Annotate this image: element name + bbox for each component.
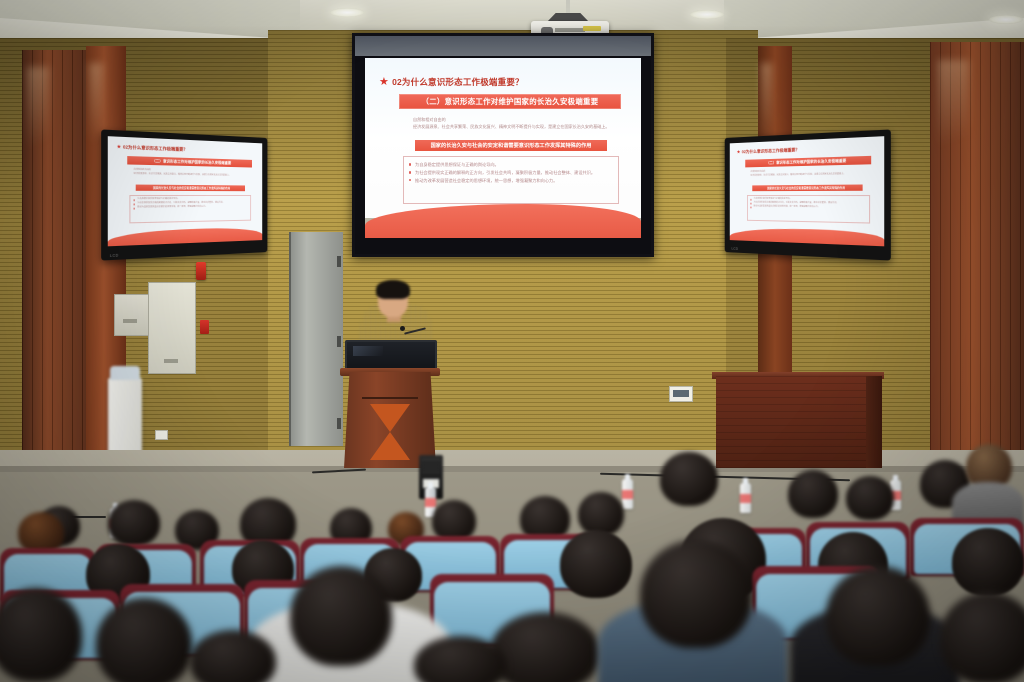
audience-head bbox=[96, 598, 192, 682]
monitor-brand-label: LCD bbox=[110, 253, 119, 258]
monitor-slide-title: ★02为什么意识形态工作极端重要？ bbox=[116, 144, 257, 155]
audience-head bbox=[940, 592, 1024, 682]
water-bottle bbox=[740, 483, 751, 513]
podium-trim bbox=[362, 397, 418, 399]
projector-vent-icon bbox=[583, 26, 601, 31]
monitor-lead-text: 自然和相对自由的 经济发展源泉、社会共享繁荣、民族文化复兴、精神文明不断提升与实… bbox=[134, 169, 249, 179]
wall-electrical-panel[interactable] bbox=[148, 282, 196, 374]
auditorium-scene: ★02为什么意识形态工作极端重要？ （二）意识形态工作对维护国家的长治久安极端重… bbox=[0, 0, 1024, 682]
monitor-wave-decoration bbox=[730, 227, 884, 246]
audience-head bbox=[290, 566, 392, 666]
wall-electrical-subpanel bbox=[114, 294, 152, 336]
slide-bullet-box: 为自身稳定提供思想保证与正确的舆论导向。 为社会提供现实正确的解释的正方向，引发… bbox=[403, 156, 619, 204]
ceiling-downlight-icon bbox=[690, 10, 724, 19]
audience-head bbox=[560, 530, 632, 598]
audience-head bbox=[846, 476, 894, 520]
fire-alarm-icon bbox=[196, 262, 206, 280]
audience-head bbox=[640, 540, 752, 648]
wood-column-right-outer bbox=[930, 42, 1024, 482]
right-monitor-screen: ★02为什么意识形态工作极端重要？ （二）意识形态工作对维护国家的长治久安极端重… bbox=[730, 136, 884, 246]
main-projection-screen[interactable]: ★02为什么意识形态工作极端重要？ （二）意识形态工作对维护国家的长治久安极端重… bbox=[352, 33, 654, 257]
cabinet-side-panel bbox=[866, 376, 882, 468]
slide-sub-banner: 国家的长治久安与社会的安定和谐需要意识形态工作发挥其特殊的作用 bbox=[415, 140, 607, 151]
monitor-bullet-box: 为自身稳定提供思想保证与正确的舆论导向。 为社会提供现实正确的解释的正方向，引发… bbox=[129, 195, 251, 223]
wall-outlet-icon bbox=[155, 430, 168, 440]
star-icon: ★ bbox=[379, 76, 389, 88]
service-door[interactable] bbox=[289, 232, 343, 446]
right-wall-monitor[interactable]: ★02为什么意识形态工作极端重要？ （二）意识形态工作对维护国家的长治久安极端重… bbox=[725, 129, 891, 260]
left-wall-monitor[interactable]: ★02为什么意识形态工作极端重要？ （二）意识形态工作对维护国家的长治久安极端重… bbox=[101, 129, 267, 260]
audience-head bbox=[826, 566, 930, 666]
audience-head bbox=[788, 470, 838, 518]
ceiling-downlight-icon bbox=[989, 15, 1023, 24]
left-monitor-screen: ★02为什么意识形态工作极端重要？ （二）意识形态工作对维护国家的长治久安极端重… bbox=[108, 136, 262, 246]
monitor-bullet: 推动为改革发展营造社会稳定的思想环境，统一思想，增强凝聚力和向心力。 bbox=[134, 205, 248, 210]
slide-bullet: 推动为改革发展营造社会稳定的思想环境，统一思想，增强凝聚力和向心力。 bbox=[409, 177, 613, 185]
fire-alarm-pull-icon[interactable] bbox=[200, 320, 209, 334]
monitor-bullet-box: 为自身稳定提供思想保证与正确的舆论导向。 为社会提供现实正确的解释的正方向，引发… bbox=[747, 195, 870, 224]
audience-head bbox=[0, 588, 82, 682]
slide-bullet: 为自身稳定提供思想保证与正确的舆论导向。 bbox=[409, 161, 613, 169]
monitor-bullet: 推动为改革发展营造社会稳定的思想环境，统一思想，增强凝聚力和向心力。 bbox=[751, 205, 866, 210]
projector-body-strip bbox=[555, 28, 585, 32]
monitor-slide-banner: （二）意识形态工作对维护国家的长治久安极端重要 bbox=[127, 156, 252, 167]
presentation-slide: ★02为什么意识形态工作极端重要？ （二）意识形态工作对维护国家的长治久安极端重… bbox=[365, 58, 641, 238]
audience-head bbox=[660, 452, 718, 506]
monitor-slide-title: ★02为什么意识形态工作极端重要？ bbox=[737, 144, 879, 155]
audience-head bbox=[490, 612, 600, 682]
slide-title: ★02为什么意识形态工作极端重要？ bbox=[379, 75, 631, 88]
star-icon: ★ bbox=[737, 149, 741, 155]
slide-bullet: 为社会提供现实正确的解释的正方向，引发社会共鸣，凝聚积极力量，推动社会整体、建设… bbox=[409, 169, 613, 177]
slide-wave-decoration bbox=[365, 204, 641, 238]
screen-top-band bbox=[355, 36, 651, 56]
microphone-head-icon bbox=[400, 326, 405, 331]
slide-lead-text: 自然和相对自由的 经济发展源泉、社会共享繁荣、民族文化复兴、精神文明不断提升与实… bbox=[413, 116, 615, 130]
audience-head bbox=[952, 528, 1024, 596]
monitor-brand-label: LCD bbox=[731, 247, 738, 251]
wall-av-plate bbox=[669, 386, 693, 402]
audience-head bbox=[108, 500, 160, 546]
monitor-sub-banner: 国家的长治久安与社会的安定和谐需要意识形态工作发挥其特殊的作用 bbox=[136, 185, 245, 192]
water-dispenser-bottle bbox=[110, 366, 140, 380]
presenter-hair bbox=[376, 280, 410, 299]
monitor-wave-decoration bbox=[108, 227, 262, 246]
monitor-slide-banner: （二）意识形态工作对维护国家的长治久安极端重要 bbox=[745, 156, 871, 168]
star-icon: ★ bbox=[116, 144, 121, 151]
water-dispenser bbox=[108, 378, 142, 460]
monitor-lead-text: 自然和相对自由的 经济发展源泉、社会共享繁荣、民族文化复兴、精神文明不断提升与实… bbox=[751, 169, 867, 179]
wood-column-left-outer bbox=[22, 50, 86, 470]
slide-banner: （二）意识形态工作对维护国家的长治久安极端重要 bbox=[399, 94, 621, 109]
mahogany-cabinet bbox=[716, 376, 880, 468]
ceiling-downlight-icon bbox=[330, 8, 364, 17]
monitor-sub-banner: 国家的长治久安与社会的安定和谐需要意识形态工作发挥其特殊的作用 bbox=[752, 184, 862, 191]
water-bottle bbox=[622, 479, 633, 509]
